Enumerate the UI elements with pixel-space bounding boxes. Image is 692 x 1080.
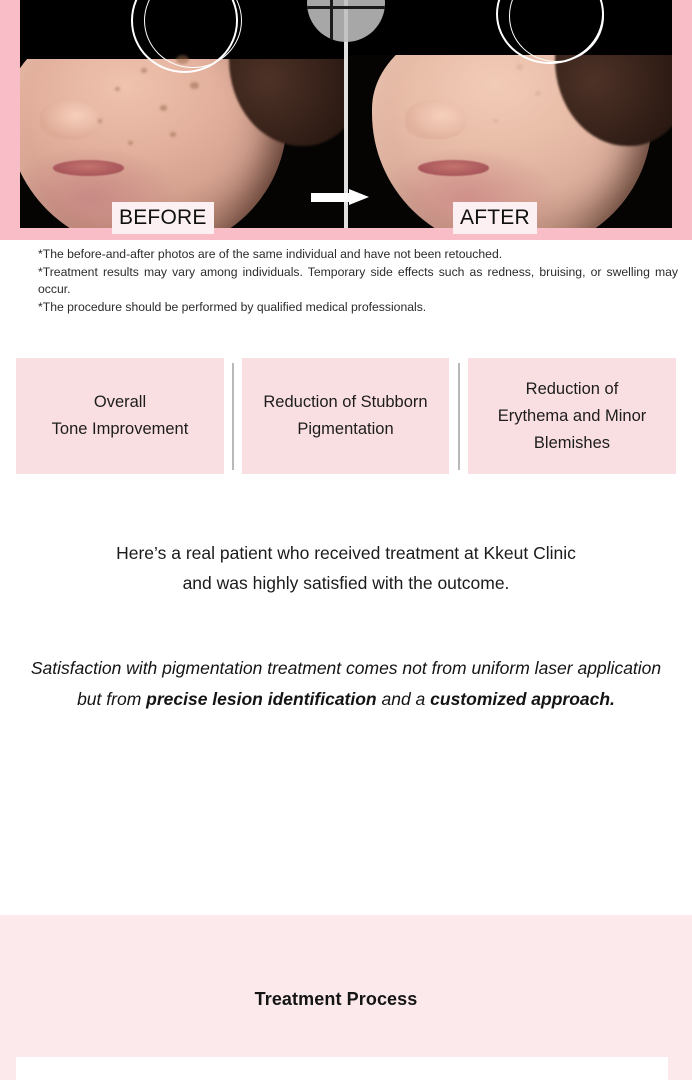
benefit-line-2: Tone Improvement [52, 420, 189, 438]
emphasis-text-part-2: and a [377, 689, 431, 709]
lead-line-2: and was highly satisfied with the outcom… [0, 568, 692, 598]
right-arrow-icon [311, 189, 369, 206]
disclaimer-block: *The before-and-after photos are of the … [38, 246, 678, 316]
pigment-spot [115, 87, 120, 91]
magnifier-crosshair-vertical [330, 0, 333, 42]
after-label: AFTER [453, 202, 537, 234]
pigment-spot [98, 119, 102, 123]
emphasis-bold-2: customized approach. [430, 689, 615, 709]
lead-line-1: Here’s a real patient who received treat… [0, 538, 692, 568]
pigment-spot [190, 82, 199, 89]
benefit-card-text: Reduction of Stubborn Pigmentation [263, 389, 427, 443]
pigment-spot [493, 119, 498, 123]
treatment-process-title: Treatment Process [0, 989, 672, 1010]
benefit-divider [458, 363, 460, 470]
before-photo [20, 0, 346, 228]
benefit-line-1: Reduction of Stubborn [263, 393, 427, 411]
nose-highlight [40, 100, 102, 139]
benefit-line-2: Pigmentation [297, 420, 393, 438]
before-label: BEFORE [112, 202, 214, 234]
disclaimer-line-2: *Treatment results may vary among indivi… [38, 264, 678, 299]
benefit-card-text: Reduction of Erythema and Minor Blemishe… [498, 376, 647, 457]
benefit-divider [232, 363, 234, 470]
benefit-line-2: Erythema and Minor [498, 407, 647, 425]
after-photo [346, 0, 672, 228]
benefit-line-1: Overall [94, 393, 146, 411]
benefit-card-row: Overall Tone Improvement Reduction of St… [0, 358, 692, 474]
lead-paragraph: Here’s a real patient who received treat… [0, 538, 692, 598]
before-after-photo [20, 0, 672, 228]
treatment-process-section: Treatment Process [0, 915, 692, 1080]
benefit-line-1: Reduction of [526, 380, 619, 398]
benefit-card-text: Overall Tone Improvement [52, 389, 189, 443]
magnifier-crosshair-horizontal [307, 6, 385, 9]
benefit-line-3: Blemishes [534, 434, 610, 452]
disclaimer-line-3: *The procedure should be performed by qu… [38, 299, 678, 317]
before-after-photo-frame: BEFORE AFTER [0, 0, 692, 240]
benefit-card-tone-improvement: Overall Tone Improvement [16, 358, 224, 474]
lips [418, 160, 490, 176]
emphasis-bold-1: precise lesion identification [146, 689, 376, 709]
pigment-spot [160, 105, 167, 111]
pigment-spot [516, 64, 523, 70]
benefit-card-stubborn-pigmentation: Reduction of Stubborn Pigmentation [242, 358, 449, 474]
benefit-card-erythema-blemishes: Reduction of Erythema and Minor Blemishe… [468, 358, 676, 474]
lips [53, 160, 125, 176]
arrow-head [349, 189, 369, 205]
nose-highlight [405, 100, 467, 139]
arrow-shaft [311, 193, 351, 202]
treatment-process-card [16, 1057, 668, 1080]
emphasis-paragraph: Satisfaction with pigmentation treatment… [20, 653, 672, 715]
disclaimer-line-1: *The before-and-after photos are of the … [38, 246, 678, 264]
